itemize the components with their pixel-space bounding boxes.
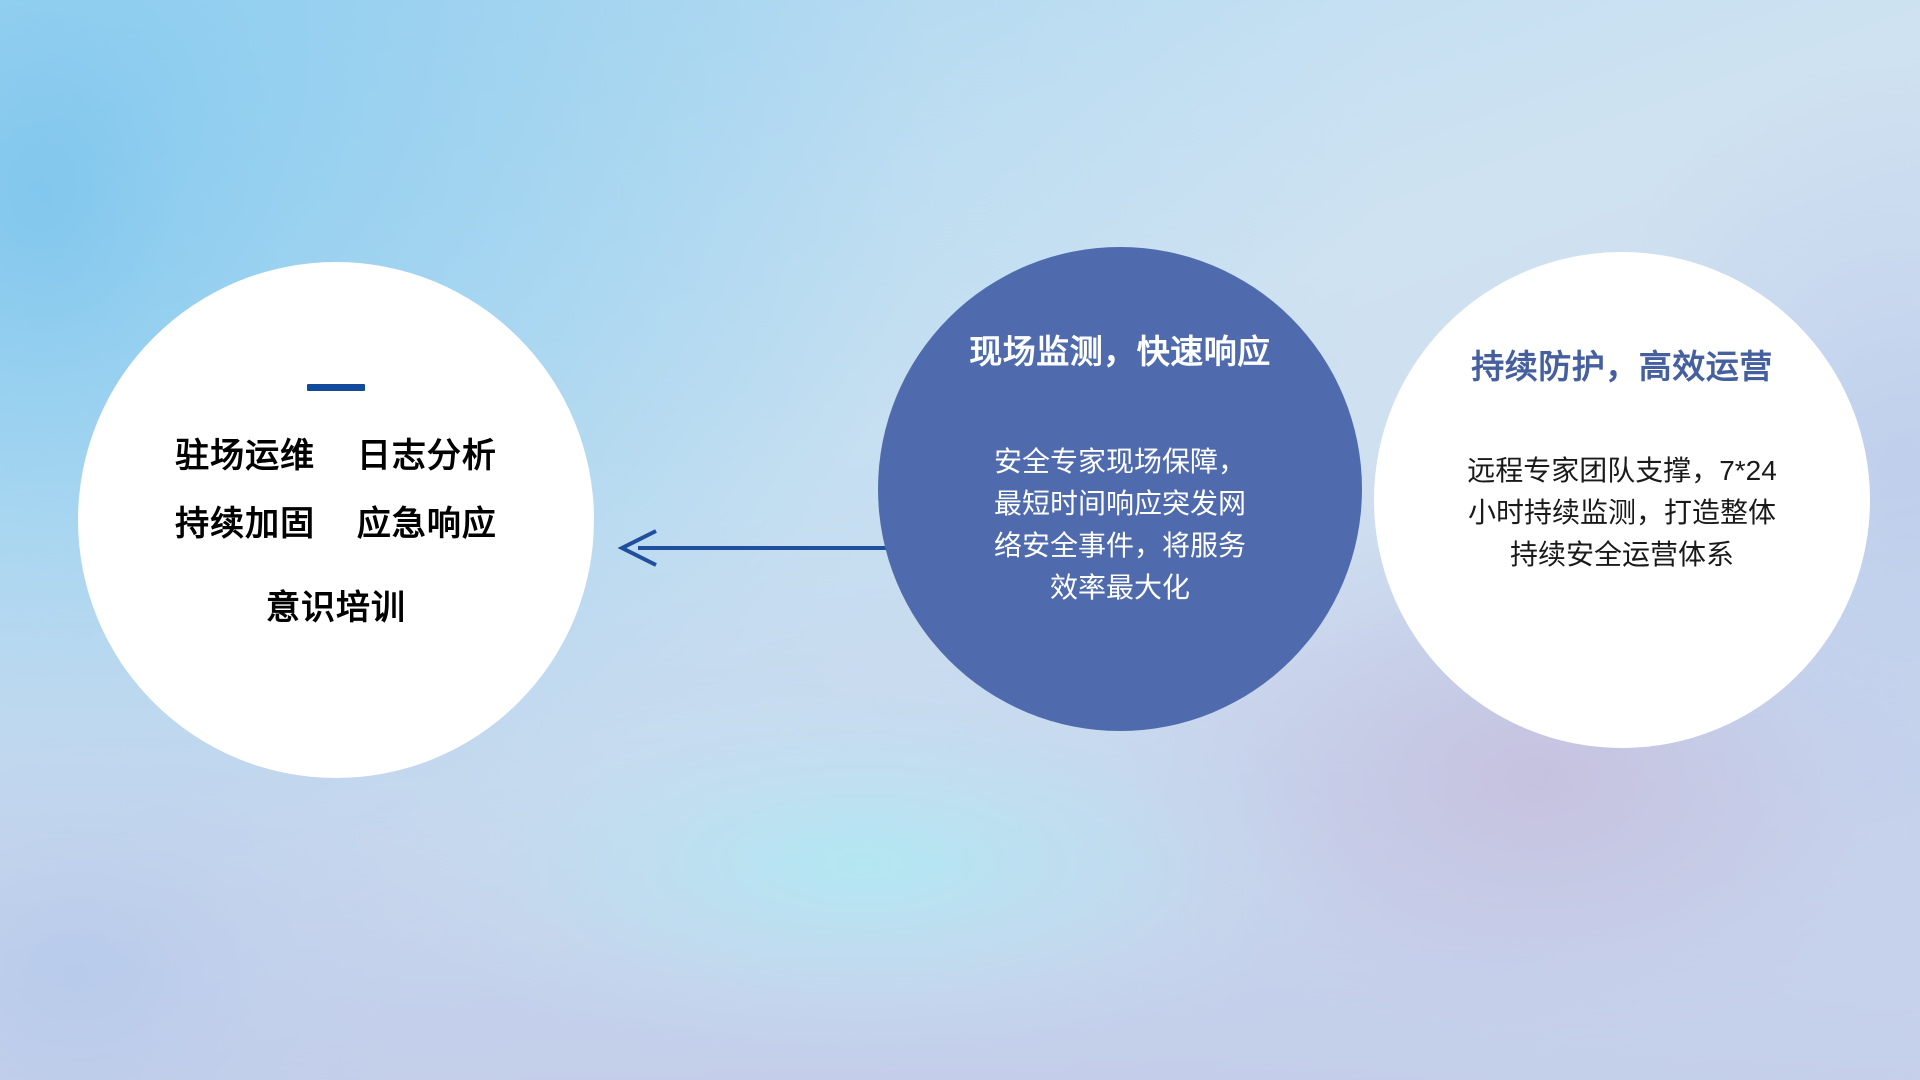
accent-dash-icon [307, 384, 365, 391]
continuous-protection-content: 持续防护，高效运营 远程专家团队支撑，7*24 小时持续监测，打造整体 持续安全… [1374, 252, 1870, 748]
protection-body-line-1: 远程专家团队支撑，7*24 [1422, 450, 1822, 492]
onsite-monitoring-body: 安全专家现场保障， 最短时间响应突发网 络安全事件，将服务 效率最大化 [955, 441, 1285, 609]
capability-circle-left[interactable]: 驻场运维 日志分析 持续加固 应急响应 意识培训 [78, 262, 594, 778]
continuous-protection-circle[interactable]: 持续防护，高效运营 远程专家团队支撑，7*24 小时持续监测，打造整体 持续安全… [1374, 252, 1870, 748]
protection-body-line-2: 小时持续监测，打造整体 [1422, 492, 1822, 534]
protection-body-line-3: 持续安全运营体系 [1422, 534, 1822, 576]
slide-canvas: 驻场运维 日志分析 持续加固 应急响应 意识培训 现场监测，快速响应 安全专家现… [0, 0, 1920, 1080]
onsite-body-line-4: 效率最大化 [955, 567, 1285, 609]
onsite-body-line-2: 最短时间响应突发网 [955, 483, 1285, 525]
continuous-protection-body: 远程专家团队支撑，7*24 小时持续监测，打造整体 持续安全运营体系 [1422, 450, 1822, 576]
onsite-monitoring-title: 现场监测，快速响应 [969, 333, 1271, 371]
arrow-icon [560, 498, 920, 598]
onsite-body-line-1: 安全专家现场保障， [955, 441, 1285, 483]
onsite-monitoring-circle[interactable]: 现场监测，快速响应 安全专家现场保障， 最短时间响应突发网 络安全事件，将服务 … [878, 247, 1362, 731]
capability-circle-left-content: 驻场运维 日志分析 持续加固 应急响应 意识培训 [78, 262, 594, 778]
onsite-body-line-3: 络安全事件，将服务 [955, 525, 1285, 567]
capability-line-1: 驻场运维 日志分析 [175, 439, 497, 473]
capability-line-2: 持续加固 应急响应 [175, 507, 497, 541]
onsite-monitoring-content: 现场监测，快速响应 安全专家现场保障， 最短时间响应突发网 络安全事件，将服务 … [878, 247, 1362, 731]
continuous-protection-title: 持续防护，高效运营 [1471, 348, 1773, 386]
capability-line-3: 意识培训 [266, 591, 406, 625]
